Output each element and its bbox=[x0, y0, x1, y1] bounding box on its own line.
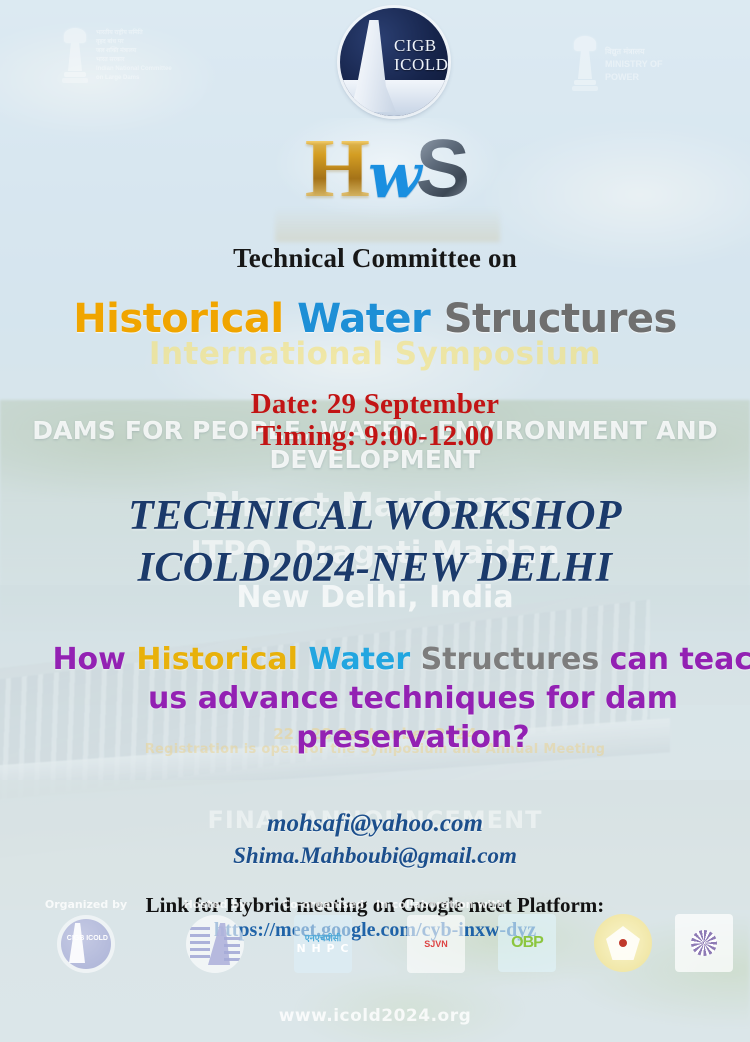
event-timing: Timing: 9:00-12.00 bbox=[0, 420, 750, 453]
gold-emblem-logo bbox=[594, 914, 652, 972]
partner-seal-logo bbox=[675, 914, 733, 972]
ministry-line-2: POWER bbox=[605, 72, 663, 83]
ministry-hindi-label: विद्युत मंत्रालय bbox=[605, 46, 663, 57]
contact-email-secondary[interactable]: Shima.Mahboubi@gmail.com bbox=[0, 843, 750, 869]
workshop-title-line1: TECHNICAL WORKSHOP bbox=[0, 492, 750, 540]
partner-hosted-by: Hosted by bbox=[160, 898, 270, 973]
title-word-structures: Structures bbox=[444, 296, 677, 342]
ministry-line-1: MINISTRY OF bbox=[605, 59, 663, 70]
partner-logo-text: SJVN bbox=[424, 939, 448, 949]
partner-label: Co-organised bbox=[268, 898, 378, 911]
emblem-line: भारत सरकार bbox=[96, 57, 172, 64]
emblem-line: वृहद बांध पर bbox=[96, 39, 172, 46]
partner-logo-wrapper: एनएचपीसी N H P C bbox=[296, 935, 349, 953]
partner-seal bbox=[664, 914, 744, 972]
partner-logo-row: Organized by CIGB ICOLD Hosted by Co-org… bbox=[0, 898, 750, 1008]
incold-dam-logo bbox=[186, 915, 244, 973]
conference-poster: International Symposium DAMS FOR PEOPLE,… bbox=[0, 0, 750, 1042]
emblem-line: भारतीय राष्ट्रीय समिति bbox=[96, 30, 172, 37]
icold-logo-text: CIGB ICOLD bbox=[394, 36, 448, 74]
hws-logo: H w S bbox=[275, 118, 500, 220]
emblem-line: जल शक्ति मंत्रालय bbox=[96, 48, 172, 55]
hws-letter-h: H bbox=[305, 129, 370, 209]
cigb-icold-logo: CIGB ICOLD bbox=[340, 8, 448, 116]
icold-logo-cigb: CIGB bbox=[394, 36, 448, 55]
pentagon-shape-icon bbox=[606, 926, 640, 960]
partner-obp: OBP bbox=[482, 914, 572, 972]
nhpc-logo-text: N H P C bbox=[296, 944, 349, 953]
sjvn-logo: SJVN bbox=[407, 915, 465, 973]
partner-logo-text: OBP bbox=[511, 934, 543, 952]
ashoka-pillar-icon bbox=[62, 28, 88, 84]
title-word-water: Water bbox=[297, 296, 430, 342]
nhpc-logo: एनएचपीसी N H P C bbox=[294, 915, 352, 973]
partner-logo-text: CIGB ICOLD bbox=[67, 935, 108, 943]
page-title: Historical Water Structures bbox=[0, 296, 750, 342]
event-date: Date: 29 September bbox=[0, 388, 750, 421]
partner-label: In collaboration with bbox=[376, 898, 496, 911]
cigb-icold-logo: CIGB ICOLD bbox=[57, 915, 115, 973]
question-part-1: How bbox=[52, 642, 136, 677]
icold-logo-icold: ICOLD bbox=[394, 55, 448, 74]
obp-logo: OBP bbox=[498, 914, 556, 972]
question-space-1 bbox=[298, 642, 308, 677]
question-space-2 bbox=[410, 642, 420, 677]
contact-email-primary[interactable]: mohsafi@yahoo.com bbox=[0, 810, 750, 838]
workshop-question: How Historical Water Structures can teac… bbox=[0, 640, 750, 757]
partner-gold-emblem bbox=[578, 914, 668, 972]
india-emblem-block: भारतीय राष्ट्रीय समिति वृहद बांध पर जल श… bbox=[62, 28, 172, 84]
question-word-structures: Structures bbox=[421, 642, 600, 677]
question-word-water: Water bbox=[308, 642, 410, 677]
hws-letter-s: S bbox=[416, 129, 471, 209]
hws-letter-w-wave: w bbox=[368, 136, 421, 216]
ministry-of-power-block: विद्युत मंत्रालय MINISTRY OF POWER bbox=[572, 36, 663, 92]
hws-logo-reflection bbox=[275, 208, 500, 242]
committee-prefix: Technical Committee on bbox=[0, 243, 750, 274]
india-emblem-text: भारतीय राष्ट्रीय समिति वृहद बांध पर जल श… bbox=[96, 28, 172, 84]
partner-co-organised: Co-organised एनएचपीसी N H P C bbox=[268, 898, 378, 973]
question-word-historical: Historical bbox=[136, 642, 298, 677]
ashoka-pillar-icon bbox=[572, 36, 598, 92]
emblem-line: on Large Dams bbox=[96, 75, 172, 82]
emblem-line: Indian National Committee bbox=[96, 66, 172, 73]
partner-label: Organized by bbox=[26, 898, 146, 911]
icold-logo-dam-shape bbox=[350, 20, 396, 112]
title-word-historical: Historical bbox=[73, 296, 283, 342]
ministry-of-power-text: विद्युत मंत्रालय MINISTRY OF POWER bbox=[605, 36, 663, 92]
partner-label: Hosted by bbox=[160, 898, 270, 911]
workshop-title-line2: ICOLD2024-NEW DELHI bbox=[0, 544, 750, 592]
partner-organized-by: Organized by CIGB ICOLD bbox=[26, 898, 146, 973]
partner-collaboration: In collaboration with SJVN bbox=[376, 898, 496, 973]
wheel-icon bbox=[691, 930, 717, 956]
